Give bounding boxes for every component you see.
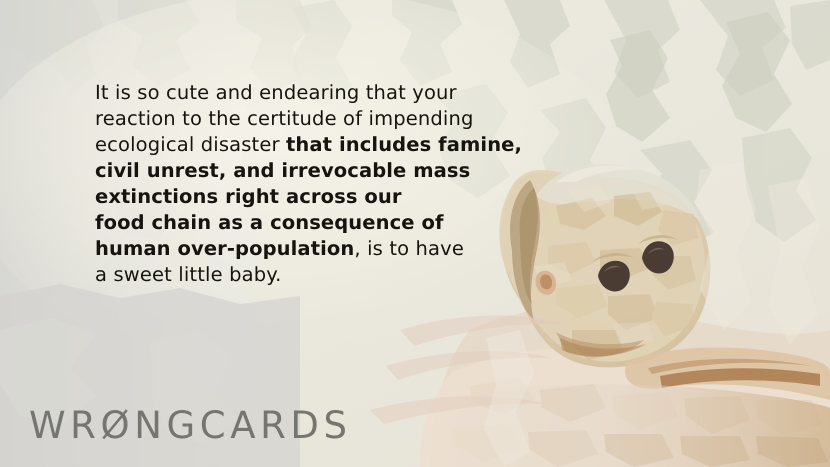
message-line: civil unrest, and irrevocable mass: [95, 158, 535, 184]
message-line: a sweet little baby.: [95, 262, 535, 288]
message-segment-bold: that includes famine,: [286, 133, 522, 156]
message-line: reaction to the certitude of impending: [95, 106, 535, 132]
message-segment: ecological disaster: [95, 133, 286, 156]
message-segment: a sweet little baby.: [95, 263, 282, 286]
message-segment: reaction to the certitude of impending: [95, 107, 474, 130]
message-line: food chain as a consequence of: [95, 210, 535, 236]
message-segment: , is to have: [354, 237, 464, 260]
wrongcards-ecard: It is so cute and endearing that your re…: [0, 0, 830, 467]
message-line: ecological disaster that includes famine…: [95, 132, 535, 158]
card-message: It is so cute and endearing that your re…: [95, 80, 535, 288]
message-segment-bold: extinctions right across our: [95, 185, 402, 208]
message-line: human over-population, is to have: [95, 236, 535, 262]
message-segment-bold: human over-population: [95, 237, 354, 260]
message-segment-bold: food chain as a consequence of: [95, 211, 444, 234]
message-segment: It is so cute and endearing that your: [95, 81, 457, 104]
wrongcards-logo: WRØNGCARDS: [29, 404, 352, 448]
message-line: It is so cute and endearing that your: [95, 80, 535, 106]
message-segment-bold: civil unrest, and irrevocable mass: [95, 159, 470, 182]
message-line: extinctions right across our: [95, 184, 535, 210]
